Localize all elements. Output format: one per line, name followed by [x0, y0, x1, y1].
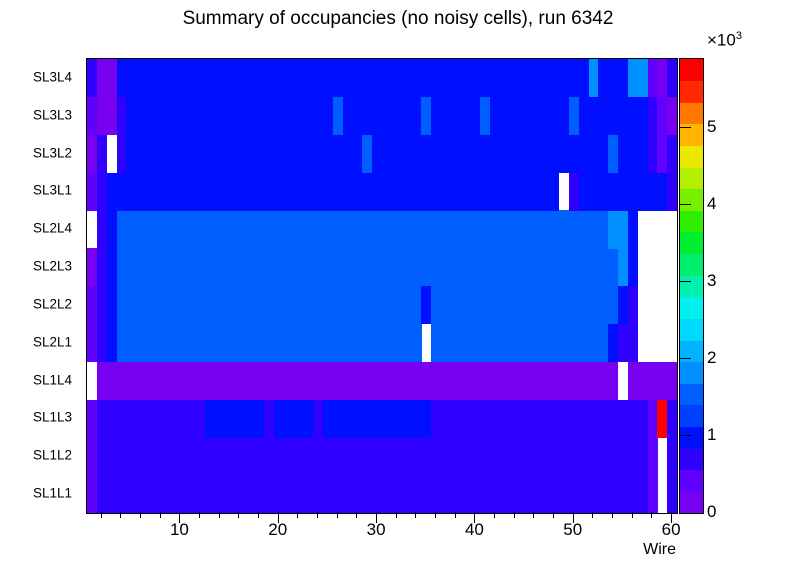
heatmap-cell[interactable] — [313, 173, 323, 211]
heatmap-cell[interactable] — [215, 59, 225, 97]
heatmap-cell[interactable] — [244, 286, 254, 324]
heatmap-cell[interactable] — [648, 173, 658, 211]
heatmap-cell[interactable] — [176, 59, 186, 97]
heatmap-cell[interactable] — [323, 286, 333, 324]
heatmap-cell[interactable] — [569, 286, 579, 324]
heatmap-cell[interactable] — [589, 135, 599, 173]
heatmap-cell[interactable] — [205, 475, 215, 513]
heatmap-cell[interactable] — [618, 135, 628, 173]
heatmap-cell[interactable] — [343, 210, 353, 248]
heatmap-cell[interactable] — [166, 324, 176, 362]
heatmap-cell[interactable] — [235, 475, 245, 513]
heatmap-cell[interactable] — [107, 59, 117, 97]
heatmap-cell[interactable] — [402, 59, 412, 97]
heatmap-cell[interactable] — [117, 135, 127, 173]
heatmap-cell[interactable] — [225, 59, 235, 97]
heatmap-cell[interactable] — [244, 59, 254, 97]
heatmap-cell[interactable] — [176, 173, 186, 211]
heatmap-cell[interactable] — [461, 286, 471, 324]
heatmap-cell[interactable] — [235, 97, 245, 135]
heatmap-cell[interactable] — [549, 97, 559, 135]
heatmap-cell[interactable] — [451, 59, 461, 97]
heatmap-cell[interactable] — [608, 173, 618, 211]
heatmap-cell[interactable] — [451, 475, 461, 513]
heatmap-cell[interactable] — [421, 437, 431, 475]
heatmap-cell[interactable] — [451, 210, 461, 248]
heatmap-cell[interactable] — [235, 248, 245, 286]
heatmap-cell[interactable] — [195, 210, 205, 248]
heatmap-cell[interactable] — [303, 59, 313, 97]
heatmap-cell[interactable] — [461, 248, 471, 286]
heatmap-cell[interactable] — [510, 400, 520, 438]
heatmap-cell[interactable] — [303, 248, 313, 286]
heatmap-cell[interactable] — [520, 97, 530, 135]
heatmap-cell[interactable] — [579, 286, 589, 324]
heatmap-cell[interactable] — [539, 400, 549, 438]
heatmap-cell[interactable] — [461, 135, 471, 173]
heatmap-cell[interactable] — [480, 173, 490, 211]
heatmap-cell[interactable] — [372, 286, 382, 324]
heatmap-cell[interactable] — [598, 210, 608, 248]
heatmap-cell[interactable] — [156, 97, 166, 135]
heatmap-cell[interactable] — [628, 400, 638, 438]
heatmap-cell[interactable] — [480, 324, 490, 362]
heatmap-cell[interactable] — [598, 286, 608, 324]
heatmap-cell[interactable] — [628, 97, 638, 135]
heatmap-cell[interactable] — [618, 97, 628, 135]
heatmap-cell[interactable] — [254, 475, 264, 513]
heatmap-cell[interactable] — [372, 97, 382, 135]
heatmap-cell[interactable] — [274, 324, 284, 362]
heatmap-cell[interactable] — [500, 475, 510, 513]
heatmap-cell[interactable] — [471, 286, 481, 324]
heatmap-cell[interactable] — [598, 475, 608, 513]
heatmap-cell[interactable] — [362, 248, 372, 286]
heatmap-cell[interactable] — [176, 475, 186, 513]
heatmap-cell[interactable] — [510, 475, 520, 513]
heatmap-cell[interactable] — [638, 475, 648, 513]
heatmap-cell[interactable] — [402, 437, 412, 475]
heatmap-cell[interactable] — [441, 59, 451, 97]
heatmap-cell[interactable] — [264, 400, 274, 438]
heatmap-cell[interactable] — [382, 400, 392, 438]
heatmap-cell[interactable] — [500, 135, 510, 173]
heatmap-cell[interactable] — [608, 475, 618, 513]
heatmap-cell[interactable] — [569, 248, 579, 286]
heatmap-cell[interactable] — [126, 59, 136, 97]
heatmap-cell[interactable] — [97, 210, 107, 248]
heatmap-cell[interactable] — [451, 437, 461, 475]
heatmap-cell[interactable] — [520, 59, 530, 97]
heatmap-cell[interactable] — [225, 324, 235, 362]
heatmap-cell[interactable] — [471, 362, 481, 400]
heatmap-cell[interactable] — [431, 135, 441, 173]
heatmap-cell[interactable] — [205, 210, 215, 248]
heatmap-cell[interactable] — [549, 400, 559, 438]
heatmap-cell[interactable] — [667, 475, 677, 513]
heatmap-cell[interactable] — [539, 362, 549, 400]
heatmap-cell[interactable] — [185, 248, 195, 286]
heatmap-cell[interactable] — [421, 286, 431, 324]
heatmap-cell[interactable] — [294, 59, 304, 97]
heatmap-cell[interactable] — [97, 400, 107, 438]
heatmap-cell[interactable] — [294, 400, 304, 438]
heatmap-cell[interactable] — [185, 400, 195, 438]
heatmap-cell[interactable] — [471, 400, 481, 438]
heatmap-cell[interactable] — [539, 210, 549, 248]
heatmap-cell[interactable] — [559, 210, 569, 248]
heatmap-cell[interactable] — [520, 437, 530, 475]
heatmap-cell[interactable] — [471, 210, 481, 248]
heatmap-cell[interactable] — [520, 173, 530, 211]
heatmap-cell[interactable] — [618, 475, 628, 513]
heatmap-cell[interactable] — [559, 97, 569, 135]
heatmap-cell[interactable] — [372, 135, 382, 173]
heatmap-cell[interactable] — [402, 475, 412, 513]
heatmap-cell[interactable] — [254, 135, 264, 173]
heatmap-cell[interactable] — [185, 475, 195, 513]
heatmap-cell[interactable] — [97, 248, 107, 286]
heatmap-cell[interactable] — [549, 173, 559, 211]
heatmap-cell[interactable] — [215, 400, 225, 438]
heatmap-cell[interactable] — [254, 173, 264, 211]
heatmap-cell[interactable] — [146, 362, 156, 400]
heatmap-cell[interactable] — [618, 210, 628, 248]
heatmap-cell[interactable] — [608, 362, 618, 400]
heatmap-cell[interactable] — [618, 173, 628, 211]
heatmap-cell[interactable] — [313, 437, 323, 475]
heatmap-cell[interactable] — [520, 324, 530, 362]
heatmap-cell[interactable] — [362, 400, 372, 438]
heatmap-cell[interactable] — [195, 437, 205, 475]
heatmap-cell[interactable] — [480, 286, 490, 324]
heatmap-cell[interactable] — [254, 286, 264, 324]
heatmap-cell[interactable] — [490, 286, 500, 324]
heatmap-cell[interactable] — [87, 59, 97, 97]
heatmap-cell[interactable] — [136, 362, 146, 400]
heatmap-cell[interactable] — [254, 400, 264, 438]
heatmap-cell[interactable] — [343, 248, 353, 286]
heatmap-cell[interactable] — [441, 475, 451, 513]
heatmap-cell[interactable] — [392, 135, 402, 173]
heatmap-cell[interactable] — [392, 475, 402, 513]
heatmap-cell[interactable] — [215, 248, 225, 286]
heatmap-cell[interactable] — [126, 437, 136, 475]
heatmap-cell[interactable] — [372, 210, 382, 248]
heatmap-cell[interactable] — [579, 135, 589, 173]
heatmap-cell[interactable] — [530, 97, 540, 135]
heatmap-cell[interactable] — [362, 59, 372, 97]
heatmap-cell[interactable] — [323, 324, 333, 362]
heatmap-cell[interactable] — [667, 135, 677, 173]
heatmap-cell[interactable] — [136, 248, 146, 286]
heatmap-cell[interactable] — [549, 324, 559, 362]
heatmap-cell[interactable] — [215, 362, 225, 400]
heatmap-cell[interactable] — [107, 437, 117, 475]
heatmap-cell[interactable] — [353, 248, 363, 286]
heatmap-cell[interactable] — [353, 475, 363, 513]
heatmap-cell[interactable] — [333, 248, 343, 286]
heatmap-cell[interactable] — [362, 475, 372, 513]
heatmap-cell[interactable] — [313, 324, 323, 362]
heatmap-cell[interactable] — [235, 362, 245, 400]
heatmap-cell[interactable] — [343, 400, 353, 438]
heatmap-cell[interactable] — [402, 248, 412, 286]
heatmap-cell[interactable] — [185, 324, 195, 362]
heatmap-cell[interactable] — [185, 437, 195, 475]
heatmap-cell[interactable] — [549, 59, 559, 97]
heatmap-cell[interactable] — [244, 210, 254, 248]
heatmap-cell[interactable] — [323, 475, 333, 513]
heatmap-cell[interactable] — [451, 400, 461, 438]
heatmap-cell[interactable] — [441, 248, 451, 286]
heatmap-cell[interactable] — [530, 362, 540, 400]
heatmap-cell[interactable] — [362, 97, 372, 135]
heatmap-cell[interactable] — [382, 248, 392, 286]
heatmap-cell[interactable] — [451, 173, 461, 211]
heatmap-cell[interactable] — [657, 400, 667, 438]
heatmap-cell[interactable] — [539, 135, 549, 173]
heatmap-cell[interactable] — [284, 135, 294, 173]
heatmap-cell[interactable] — [392, 286, 402, 324]
heatmap-cell[interactable] — [500, 210, 510, 248]
heatmap-cell[interactable] — [333, 286, 343, 324]
heatmap-cell[interactable] — [628, 362, 638, 400]
heatmap-cell[interactable] — [284, 59, 294, 97]
heatmap-cell[interactable] — [87, 135, 97, 173]
heatmap-cell[interactable] — [126, 475, 136, 513]
heatmap-cell[interactable] — [608, 286, 618, 324]
heatmap-cell[interactable] — [146, 437, 156, 475]
heatmap-cell[interactable] — [530, 437, 540, 475]
heatmap-cell[interactable] — [97, 437, 107, 475]
heatmap-cell[interactable] — [264, 475, 274, 513]
heatmap-cell[interactable] — [549, 362, 559, 400]
heatmap-cell[interactable] — [205, 286, 215, 324]
heatmap-cell[interactable] — [490, 59, 500, 97]
heatmap-cell[interactable] — [461, 400, 471, 438]
heatmap-cell[interactable] — [510, 59, 520, 97]
heatmap-cell[interactable] — [530, 59, 540, 97]
heatmap-cell[interactable] — [323, 135, 333, 173]
heatmap-cell[interactable] — [353, 286, 363, 324]
heatmap-cell[interactable] — [510, 248, 520, 286]
heatmap-cell[interactable] — [431, 97, 441, 135]
heatmap-cell[interactable] — [480, 210, 490, 248]
heatmap-cell[interactable] — [87, 248, 97, 286]
heatmap-cell[interactable] — [382, 324, 392, 362]
heatmap-cell[interactable] — [274, 210, 284, 248]
heatmap-cell[interactable] — [294, 437, 304, 475]
heatmap-cell[interactable] — [667, 400, 677, 438]
heatmap-cell[interactable] — [323, 362, 333, 400]
heatmap-cell[interactable] — [490, 135, 500, 173]
heatmap-cell[interactable] — [648, 135, 658, 173]
heatmap-cell[interactable] — [294, 135, 304, 173]
heatmap-cell[interactable] — [559, 437, 569, 475]
heatmap-cell[interactable] — [97, 362, 107, 400]
heatmap-cell[interactable] — [608, 400, 618, 438]
heatmap-cell[interactable] — [549, 437, 559, 475]
heatmap-cell[interactable] — [441, 437, 451, 475]
heatmap-cell[interactable] — [628, 286, 638, 324]
heatmap-cell[interactable] — [648, 362, 658, 400]
heatmap-cell[interactable] — [589, 437, 599, 475]
heatmap-cell[interactable] — [353, 437, 363, 475]
heatmap-cell[interactable] — [500, 97, 510, 135]
heatmap-cell[interactable] — [254, 324, 264, 362]
heatmap-cell[interactable] — [205, 248, 215, 286]
heatmap-cell[interactable] — [303, 324, 313, 362]
heatmap-cell[interactable] — [195, 173, 205, 211]
heatmap-cell[interactable] — [333, 437, 343, 475]
heatmap-cell[interactable] — [107, 210, 117, 248]
heatmap-cell[interactable] — [303, 400, 313, 438]
heatmap-cell[interactable] — [618, 324, 628, 362]
heatmap-cell[interactable] — [313, 286, 323, 324]
heatmap-cell[interactable] — [353, 362, 363, 400]
heatmap-cell[interactable] — [176, 210, 186, 248]
heatmap-cell[interactable] — [126, 248, 136, 286]
heatmap-cell[interactable] — [490, 437, 500, 475]
heatmap-cell[interactable] — [294, 286, 304, 324]
heatmap-cell[interactable] — [362, 324, 372, 362]
heatmap-cell[interactable] — [284, 286, 294, 324]
heatmap-cell[interactable] — [343, 135, 353, 173]
heatmap-cell[interactable] — [195, 475, 205, 513]
heatmap-cell[interactable] — [294, 210, 304, 248]
heatmap-cell[interactable] — [156, 135, 166, 173]
heatmap-cell[interactable] — [284, 475, 294, 513]
heatmap-cell[interactable] — [362, 362, 372, 400]
heatmap-cell[interactable] — [520, 400, 530, 438]
heatmap-cell[interactable] — [343, 173, 353, 211]
heatmap-cell[interactable] — [569, 475, 579, 513]
heatmap-cell[interactable] — [667, 173, 677, 211]
heatmap-cell[interactable] — [510, 173, 520, 211]
heatmap-cell[interactable] — [579, 210, 589, 248]
heatmap-cell[interactable] — [461, 437, 471, 475]
heatmap-cell[interactable] — [333, 173, 343, 211]
heatmap-cell[interactable] — [392, 362, 402, 400]
heatmap-cell[interactable] — [579, 324, 589, 362]
heatmap-cell[interactable] — [117, 324, 127, 362]
heatmap-cell[interactable] — [176, 97, 186, 135]
heatmap-cell[interactable] — [244, 324, 254, 362]
heatmap-cell[interactable] — [225, 437, 235, 475]
heatmap-cell[interactable] — [254, 437, 264, 475]
heatmap-cell[interactable] — [294, 248, 304, 286]
heatmap-cell[interactable] — [166, 475, 176, 513]
heatmap-cell[interactable] — [146, 400, 156, 438]
heatmap-cell[interactable] — [244, 475, 254, 513]
heatmap-cell[interactable] — [372, 173, 382, 211]
heatmap-cell[interactable] — [205, 362, 215, 400]
heatmap-cell[interactable] — [530, 173, 540, 211]
heatmap-cell[interactable] — [343, 324, 353, 362]
heatmap-cell[interactable] — [176, 362, 186, 400]
heatmap-cell[interactable] — [185, 59, 195, 97]
heatmap-cell[interactable] — [598, 59, 608, 97]
heatmap-cell[interactable] — [569, 59, 579, 97]
heatmap-cell[interactable] — [166, 362, 176, 400]
heatmap-cell[interactable] — [500, 173, 510, 211]
heatmap-cell[interactable] — [392, 173, 402, 211]
heatmap-cell[interactable] — [323, 400, 333, 438]
heatmap-cell[interactable] — [421, 97, 431, 135]
heatmap-cell[interactable] — [215, 173, 225, 211]
heatmap-cell[interactable] — [589, 97, 599, 135]
heatmap-cell[interactable] — [500, 248, 510, 286]
heatmap-cell[interactable] — [87, 286, 97, 324]
heatmap-cell[interactable] — [97, 475, 107, 513]
heatmap-cell[interactable] — [205, 173, 215, 211]
heatmap-cell[interactable] — [579, 248, 589, 286]
heatmap-cell[interactable] — [156, 362, 166, 400]
heatmap-cell[interactable] — [431, 437, 441, 475]
heatmap-cell[interactable] — [549, 248, 559, 286]
heatmap-cell[interactable] — [500, 437, 510, 475]
heatmap-cell[interactable] — [628, 248, 638, 286]
heatmap-cell[interactable] — [126, 286, 136, 324]
heatmap-cell[interactable] — [421, 362, 431, 400]
heatmap-cell[interactable] — [166, 400, 176, 438]
heatmap-cell[interactable] — [323, 248, 333, 286]
heatmap-cell[interactable] — [382, 173, 392, 211]
heatmap-cell[interactable] — [539, 97, 549, 135]
heatmap-cell[interactable] — [235, 324, 245, 362]
heatmap-cell[interactable] — [244, 400, 254, 438]
heatmap-cell[interactable] — [166, 248, 176, 286]
heatmap-cell[interactable] — [657, 173, 667, 211]
heatmap-cell[interactable] — [126, 324, 136, 362]
heatmap-cell[interactable] — [559, 362, 569, 400]
heatmap-cell[interactable] — [490, 248, 500, 286]
heatmap-cell[interactable] — [648, 400, 658, 438]
heatmap-cell[interactable] — [195, 97, 205, 135]
heatmap-cell[interactable] — [589, 475, 599, 513]
heatmap-cell[interactable] — [146, 97, 156, 135]
heatmap-cell[interactable] — [303, 475, 313, 513]
heatmap-cell[interactable] — [589, 173, 599, 211]
heatmap-cell[interactable] — [353, 324, 363, 362]
heatmap-cell[interactable] — [471, 475, 481, 513]
heatmap-cell[interactable] — [648, 59, 658, 97]
heatmap-cell[interactable] — [185, 173, 195, 211]
heatmap-cell[interactable] — [500, 362, 510, 400]
heatmap-cell[interactable] — [539, 437, 549, 475]
heatmap-cell[interactable] — [274, 286, 284, 324]
heatmap-cell[interactable] — [520, 210, 530, 248]
heatmap-cell[interactable] — [235, 210, 245, 248]
heatmap-cell[interactable] — [539, 324, 549, 362]
heatmap-cell[interactable] — [264, 210, 274, 248]
heatmap-cell[interactable] — [579, 362, 589, 400]
heatmap-cell[interactable] — [431, 362, 441, 400]
heatmap-cell[interactable] — [362, 437, 372, 475]
heatmap-cell[interactable] — [372, 437, 382, 475]
heatmap-cell[interactable] — [97, 173, 107, 211]
heatmap-cell[interactable] — [87, 437, 97, 475]
heatmap-cell[interactable] — [412, 210, 422, 248]
heatmap-cell[interactable] — [156, 286, 166, 324]
heatmap-cell[interactable] — [107, 362, 117, 400]
heatmap-cell[interactable] — [215, 135, 225, 173]
heatmap-cell[interactable] — [235, 286, 245, 324]
heatmap-cell[interactable] — [471, 135, 481, 173]
heatmap-cell[interactable] — [431, 210, 441, 248]
heatmap-cell[interactable] — [343, 475, 353, 513]
